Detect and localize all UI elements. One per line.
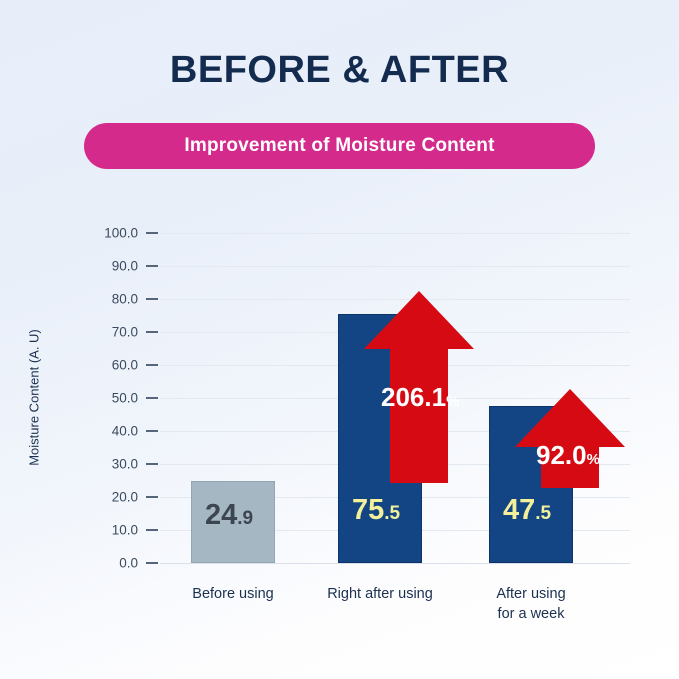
x-axis-baseline (160, 563, 630, 564)
x-axis-label-before-using-line1: Before using (153, 584, 313, 604)
y-tick-label-80: 80.0 (58, 292, 138, 307)
increase-arrow-label-after-a-week: 92.0% (536, 442, 600, 468)
x-axis-label-before-using: Before using (153, 584, 313, 604)
y-tick-label-90: 90.0 (58, 259, 138, 274)
increase-value-after-a-week: 92.0 (536, 440, 587, 470)
x-axis-label-right-after-using: Right after using (300, 584, 460, 604)
infographic-poster: BEFORE & AFTER Improvement of Moisture C… (0, 0, 679, 679)
bar-value-whole-before-using: 24 (205, 499, 237, 531)
y-tick-mark-100 (146, 232, 158, 234)
y-tick-mark-30 (146, 463, 158, 465)
increase-unit-right-after-using: % (446, 393, 459, 410)
bar-value-right-after-using: 75.5 (352, 496, 400, 525)
y-tick-mark-70 (146, 331, 158, 333)
bar-value-frac-right-after-using: .5 (384, 503, 400, 524)
y-tick-label-70: 70.0 (58, 325, 138, 340)
y-tick-label-20: 20.0 (58, 490, 138, 505)
y-tick-mark-40 (146, 430, 158, 432)
y-tick-label-30: 30.0 (58, 457, 138, 472)
y-tick-label-60: 60.0 (58, 358, 138, 373)
y-tick-label-10: 10.0 (58, 523, 138, 538)
x-axis-label-right-after-using-line1: Right after using (300, 584, 460, 604)
x-axis-label-after-a-week-line1: After using (451, 584, 611, 604)
y-tick-mark-60 (146, 364, 158, 366)
y-axis-title: Moisture Content (A. U) (27, 268, 42, 528)
y-tick-mark-80 (146, 298, 158, 300)
y-tick-mark-90 (146, 265, 158, 267)
gridline-100 (160, 233, 630, 234)
y-tick-label-40: 40.0 (58, 424, 138, 439)
bar-value-whole-after-a-week: 47 (503, 494, 535, 526)
bar-chart: Moisture Content (A. U) 100.0 90.0 80.0 … (0, 0, 679, 679)
increase-arrow-label-right-after-using: 206.1% (381, 384, 459, 410)
bar-value-after-using-for-a-week: 47.5 (503, 496, 551, 525)
bar-value-whole-right-after-using: 75 (352, 494, 384, 526)
gridline-90 (160, 266, 630, 267)
y-tick-label-0: 0.0 (58, 556, 138, 571)
y-tick-mark-10 (146, 529, 158, 531)
y-tick-mark-20 (146, 496, 158, 498)
increase-arrow-after-a-week-icon (515, 389, 625, 488)
x-axis-label-after-a-week-line2: for a week (451, 604, 611, 624)
bar-value-before-using: 24.9 (205, 501, 253, 530)
bar-value-frac-after-a-week: .5 (535, 503, 551, 524)
x-axis-label-after-a-week: After using for a week (451, 584, 611, 624)
y-tick-label-100: 100.0 (58, 226, 138, 241)
bar-value-frac-before-using: .9 (237, 508, 253, 529)
y-tick-label-50: 50.0 (58, 391, 138, 406)
y-tick-mark-50 (146, 397, 158, 399)
y-tick-mark-0 (146, 562, 158, 564)
increase-value-right-after-using: 206.1 (381, 382, 446, 412)
increase-unit-after-a-week: % (587, 451, 600, 468)
